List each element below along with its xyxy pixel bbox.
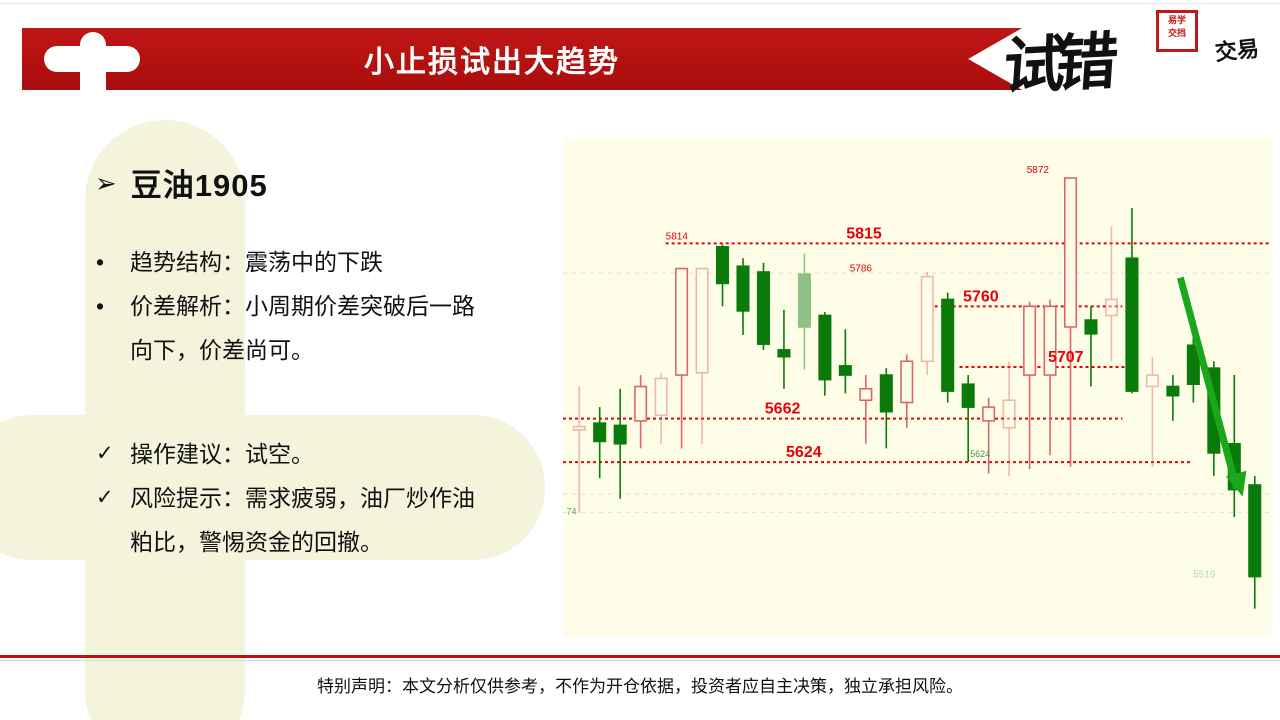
candle [840,329,851,393]
content-panel: ➢ 豆油1905 • 趋势结构：震荡中的下跌 • 价差解析：小周期价差突破后一路… [0,0,560,650]
candle [778,310,789,389]
candle [1065,178,1076,467]
candle [942,293,953,403]
price-label: 5662 [765,401,801,418]
price-label: 5814 [666,231,689,242]
candle [819,312,830,396]
check-bullet-icon: ✓ [90,479,130,517]
price-label: 5760 [963,288,999,305]
list-item-text: 向下，价差尚可。 [130,331,314,369]
list-item-text: 粕比，警惕资金的回撤。 [130,523,383,561]
dot-bullet-icon: • [90,287,130,325]
candle [1044,299,1055,455]
candle [655,373,666,444]
arrow-bullet-icon: ➢ [95,170,117,196]
candle [1024,302,1035,469]
list-item: ✓ 风险提示：需求疲弱，油厂炒作油 [90,479,560,517]
candle [635,375,646,448]
candle [717,244,728,306]
heading-text: 豆油1905 [131,160,268,205]
candle [737,258,748,335]
price-label: 74 [567,506,577,516]
price-label: 5624 [970,449,990,459]
candle [881,368,892,448]
candle [676,269,687,449]
price-label: 5624 [786,444,822,461]
list-item-text: 风险提示：需求疲弱，油厂炒作油 [130,479,475,517]
list-item: 粕比，警惕资金的回撤。 [90,523,560,561]
list-item-text: 趋势结构：震荡中的下跌 [130,243,383,281]
list-item: • 趋势结构：震荡中的下跌 [90,243,560,281]
price-label: 5786 [850,264,873,275]
candle [1106,226,1117,361]
dot-bullet-icon: • [90,243,130,281]
price-label: 5872 [1027,165,1050,176]
candle [758,263,769,350]
list-item: ✓ 操作建议：试空。 [90,435,560,473]
candle [1249,476,1260,609]
candle [1126,208,1137,394]
candle [1003,361,1014,476]
price-label: 5519 [1193,569,1216,580]
candle [1167,375,1178,421]
candle [901,354,912,427]
list-item-text: 价差解析：小周期价差突破后一路 [130,287,475,325]
candlestick-chart: 5814581557865872576057075662562456245519… [563,138,1271,637]
footer-rule-thin [0,660,1280,661]
candle [574,387,585,513]
seal-stamp-icon: 易学 交挡 [1156,10,1198,52]
candle [1085,306,1096,386]
footer-rule [0,655,1280,658]
list-item: 向下，价差尚可。 [90,331,560,369]
brand-logo: 试错 交易 易学 交挡 [1004,4,1264,116]
top-hairline [0,3,1280,4]
list-item: • 价差解析：小周期价差突破后一路 [90,287,560,325]
candle [799,254,810,370]
seal-line-2: 交挡 [1159,26,1195,39]
section-heading: ➢ 豆油1905 [95,160,268,205]
candle [696,269,707,444]
list-item-text: 操作建议：试空。 [130,435,314,473]
slide: 小止损试出大趋势 试错 交易 易学 交挡 ➢ 豆油1905 • 趋势结构：震荡中… [0,0,1280,720]
candle [614,389,625,499]
price-label: 5815 [846,225,882,242]
logo-subtext: 交易 [1213,36,1261,67]
candle [922,272,933,375]
disclaimer-text: 特别声明：本文分析仅供参考，不作为开仓依据，投资者应自主决策，独立承担风险。 [0,672,1280,697]
candle [860,375,871,444]
price-label: 5707 [1048,349,1084,366]
bullet-group-advice: ✓ 操作建议：试空。 ✓ 风险提示：需求疲弱，油厂炒作油 粕比，警惕资金的回撤。 [90,435,560,567]
bullet-group-analysis: • 趋势结构：震荡中的下跌 • 价差解析：小周期价差突破后一路 向下，价差尚可。 [90,243,560,375]
chart-canvas: 5814581557865872576057075662562456245519… [563,138,1271,637]
candle [1147,357,1158,467]
seal-line-1: 易学 [1159,13,1195,26]
check-bullet-icon: ✓ [90,435,130,473]
candle [1229,375,1240,517]
